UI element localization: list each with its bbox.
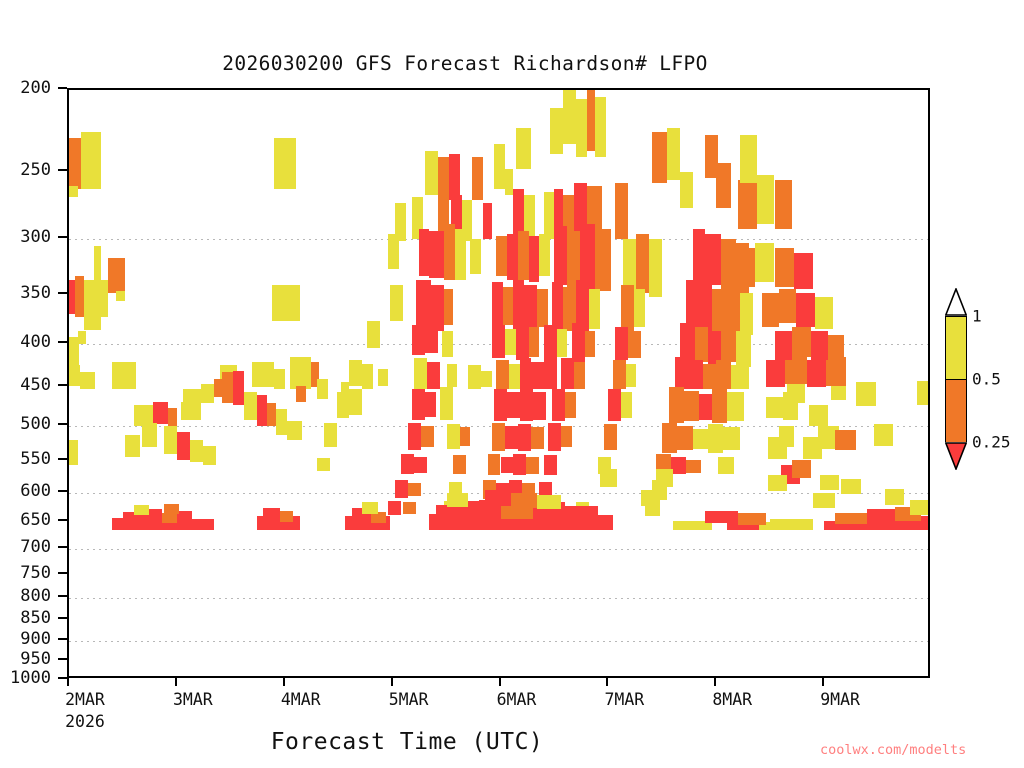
page-title: 2026030200 GFS Forecast Richardson# LFPO <box>0 52 930 75</box>
y-axis-tick-label: 900 <box>20 629 51 649</box>
x-axis-title: Forecast Time (UTC) <box>67 729 747 755</box>
watermark: coolwx.com/modelts <box>820 742 966 758</box>
x-axis-tick-label: 8MAR <box>712 690 752 709</box>
y-axis-tick-mark <box>58 169 67 171</box>
x-axis-tick-label: 4MAR <box>281 690 321 709</box>
colorbar <box>945 316 967 442</box>
colorbar-bottom-arrow <box>945 442 967 470</box>
colorbar-tick-label: 0.5 <box>972 370 1001 389</box>
x-axis-tick-label: 5MAR <box>389 690 429 709</box>
y-axis-tick-mark <box>58 490 67 492</box>
y-axis-tick-label: 800 <box>20 586 51 606</box>
y-axis-tick-label: 500 <box>20 414 51 434</box>
plot-area <box>67 88 930 678</box>
y-axis-tick-mark <box>58 87 67 89</box>
y-axis-tick-mark <box>58 595 67 597</box>
y-axis-tick-label: 550 <box>20 449 51 469</box>
y-axis-tick-mark <box>58 458 67 460</box>
colorbar-segment <box>946 317 966 379</box>
y-axis-tick-label: 350 <box>20 283 51 303</box>
x-axis-tick-mark <box>67 678 69 686</box>
x-axis-tick-mark <box>714 678 716 686</box>
colorbar-tick-label: 1 <box>972 307 982 326</box>
x-axis-tick-mark <box>822 678 824 686</box>
y-axis-tick-mark <box>58 292 67 294</box>
x-axis-tick-mark <box>606 678 608 686</box>
y-axis-tick-mark <box>58 236 67 238</box>
x-axis-tick-label: 2MAR <box>65 690 105 709</box>
x-axis-tick-label: 3MAR <box>173 690 213 709</box>
x-axis-tick-label: 6MAR <box>497 690 537 709</box>
y-axis-tick-mark <box>58 423 67 425</box>
y-axis-tick-label: 850 <box>20 608 51 628</box>
y-axis-tick-mark <box>58 546 67 548</box>
y-axis-tick-label: 400 <box>20 332 51 352</box>
y-axis-tick-mark <box>58 341 67 343</box>
y-axis-tick-mark <box>58 617 67 619</box>
y-axis-tick-label: 650 <box>20 510 51 530</box>
x-axis-tick-mark <box>175 678 177 686</box>
x-axis-tick-label: 9MAR <box>820 690 860 709</box>
y-axis-tick-label: 200 <box>20 78 51 98</box>
x-axis-tick-mark <box>391 678 393 686</box>
x-axis-tick-mark <box>283 678 285 686</box>
y-axis-tick-label: 700 <box>20 537 51 557</box>
y-axis-tick-label: 950 <box>20 649 51 669</box>
y-axis-tick-label: 450 <box>20 375 51 395</box>
colorbar-top-arrow <box>945 288 967 316</box>
y-axis-tick-label: 250 <box>20 160 51 180</box>
y-axis: 2002503003504004505005506006507007508008… <box>0 0 67 768</box>
y-axis-tick-mark <box>58 658 67 660</box>
y-axis-tick-label: 300 <box>20 227 51 247</box>
x-axis-tick-label: 7MAR <box>605 690 645 709</box>
colorbar-tick-label: 0.25 <box>972 433 1011 452</box>
y-axis-tick-label: 750 <box>20 563 51 583</box>
colorbar-segment <box>946 379 966 442</box>
y-axis-tick-mark <box>58 572 67 574</box>
y-axis-tick-mark <box>58 519 67 521</box>
y-axis-tick-mark <box>58 384 67 386</box>
y-axis-tick-mark <box>58 638 67 640</box>
terrain-layer <box>69 90 928 676</box>
x-axis-tick-mark <box>499 678 501 686</box>
y-axis-tick-label: 600 <box>20 481 51 501</box>
